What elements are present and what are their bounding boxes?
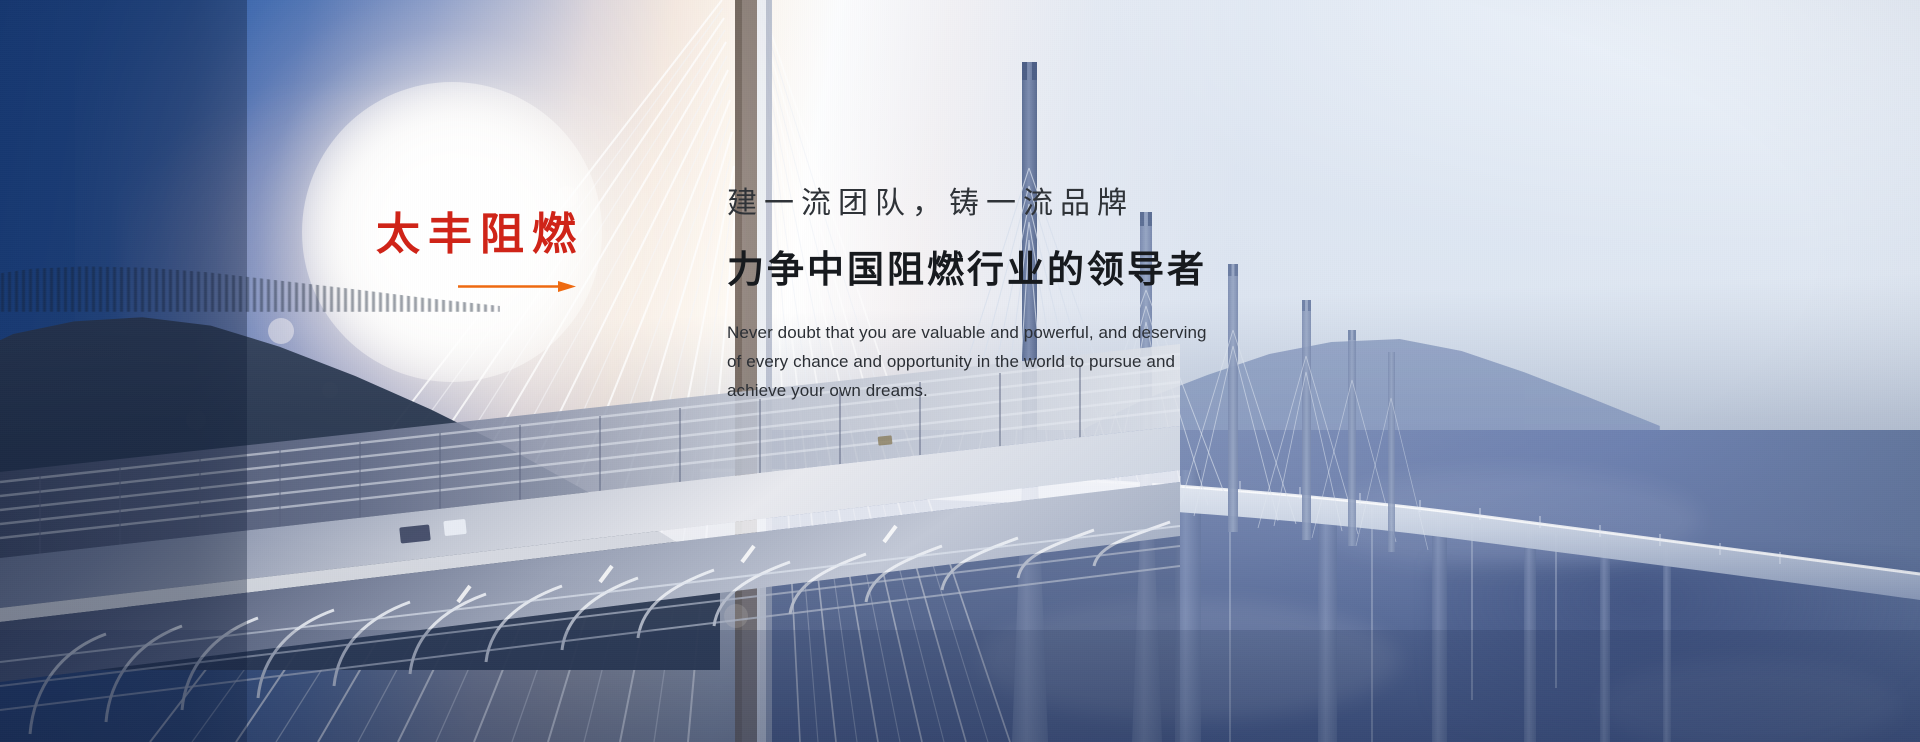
- headline-description: Never doubt that you are valuable and po…: [727, 318, 1487, 405]
- headline-description-line-3: achieve your own dreams.: [727, 376, 1487, 405]
- brand-logo[interactable]: 太丰阻燃: [376, 212, 676, 294]
- headline-subtitle: 建一流团队，铸一流品牌: [727, 186, 1487, 222]
- headline-description-line-2: of every chance and opportunity in the w…: [727, 347, 1487, 376]
- arrow-right-icon: [458, 280, 576, 294]
- headline-description-line-1: Never doubt that you are valuable and po…: [727, 318, 1487, 347]
- brand-logo-text: 太丰阻燃: [376, 212, 676, 258]
- headline-block: 建一流团队，铸一流品牌 力争中国阻燃行业的领导者 Never doubt tha…: [727, 186, 1487, 405]
- headline-title: 力争中国阻燃行业的领导者: [727, 248, 1487, 292]
- hero-banner: 太丰阻燃 建一流团队，铸一流品牌 力争中国阻燃行业的领导者 Never doub…: [0, 0, 1920, 742]
- banner-content: 太丰阻燃 建一流团队，铸一流品牌 力争中国阻燃行业的领导者 Never doub…: [0, 0, 1920, 742]
